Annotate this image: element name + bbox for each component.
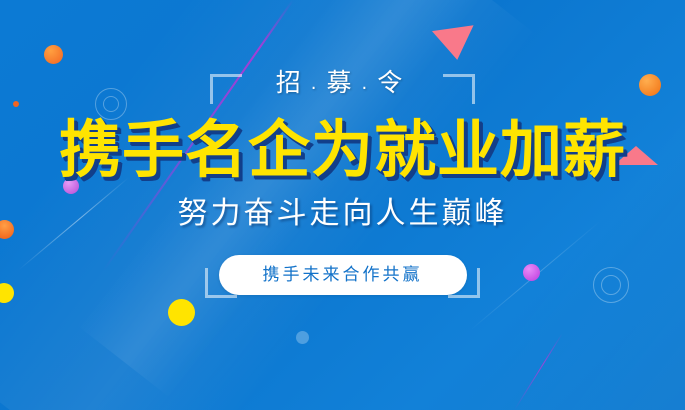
eyebrow-char-2: 募	[326, 68, 358, 97]
cta-button[interactable]: 携手未来合作共赢	[219, 255, 467, 295]
banner-content: 招.募.令 携手名企为就业加薪 努力奋斗走向人生巅峰 携手未来合作共赢	[0, 0, 685, 410]
eyebrow-char-3: 令	[377, 68, 409, 97]
eyebrow-text: 招.募.令	[276, 70, 410, 95]
eyebrow-char-1: 招	[276, 68, 308, 97]
eyebrow-separator-2: .	[359, 73, 378, 94]
recruitment-banner: 招.募.令 携手名企为就业加薪 努力奋斗走向人生巅峰 携手未来合作共赢	[0, 0, 685, 410]
headline-text: 携手名企为就业加薪	[59, 119, 626, 181]
eyebrow-separator-1: .	[308, 73, 327, 94]
subheadline-text: 努力奋斗走向人生巅峰	[178, 199, 508, 229]
